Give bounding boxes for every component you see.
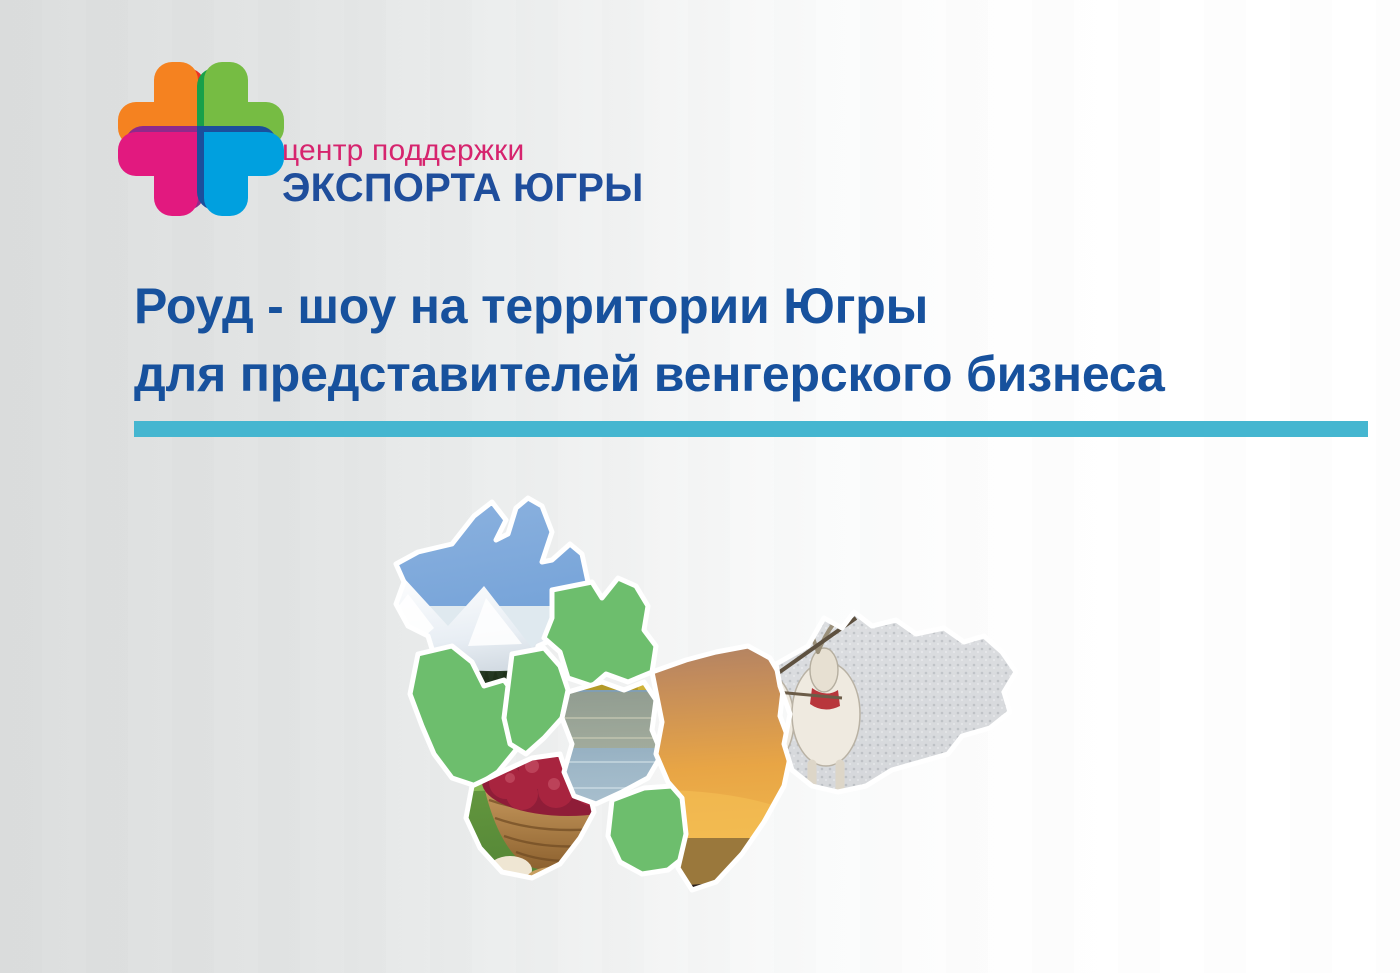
page-title-line2: для представителей венгерского бизнеса (134, 340, 1374, 408)
map-region-green-central (504, 648, 568, 754)
logo-wordmark-line2: ЭКСПОРТА ЮГРЫ (282, 168, 582, 209)
page-title-line1: Роуд - шоу на территории Югры (134, 272, 1374, 340)
yugra-map-collage (356, 486, 1056, 916)
logo-quadrant-bottom-right (197, 126, 284, 216)
logo-cross-icon (112, 50, 290, 228)
logo-wordmark: центр поддержки ЭКСПОРТА ЮГРЫ (282, 136, 582, 209)
page-title: Роуд - шоу на территории Югры для предст… (134, 272, 1374, 408)
logo: центр поддержки ЭКСПОРТА ЮГРЫ (112, 50, 582, 235)
slide-canvas: центр поддержки ЭКСПОРТА ЮГРЫ Роуд - шоу… (0, 0, 1400, 973)
logo-wordmark-line1: центр поддержки (282, 136, 582, 166)
map-region-reindeer-sled-snow (776, 612, 1016, 792)
title-divider-rule (134, 421, 1368, 437)
logo-quadrant-bottom-left (118, 126, 205, 216)
